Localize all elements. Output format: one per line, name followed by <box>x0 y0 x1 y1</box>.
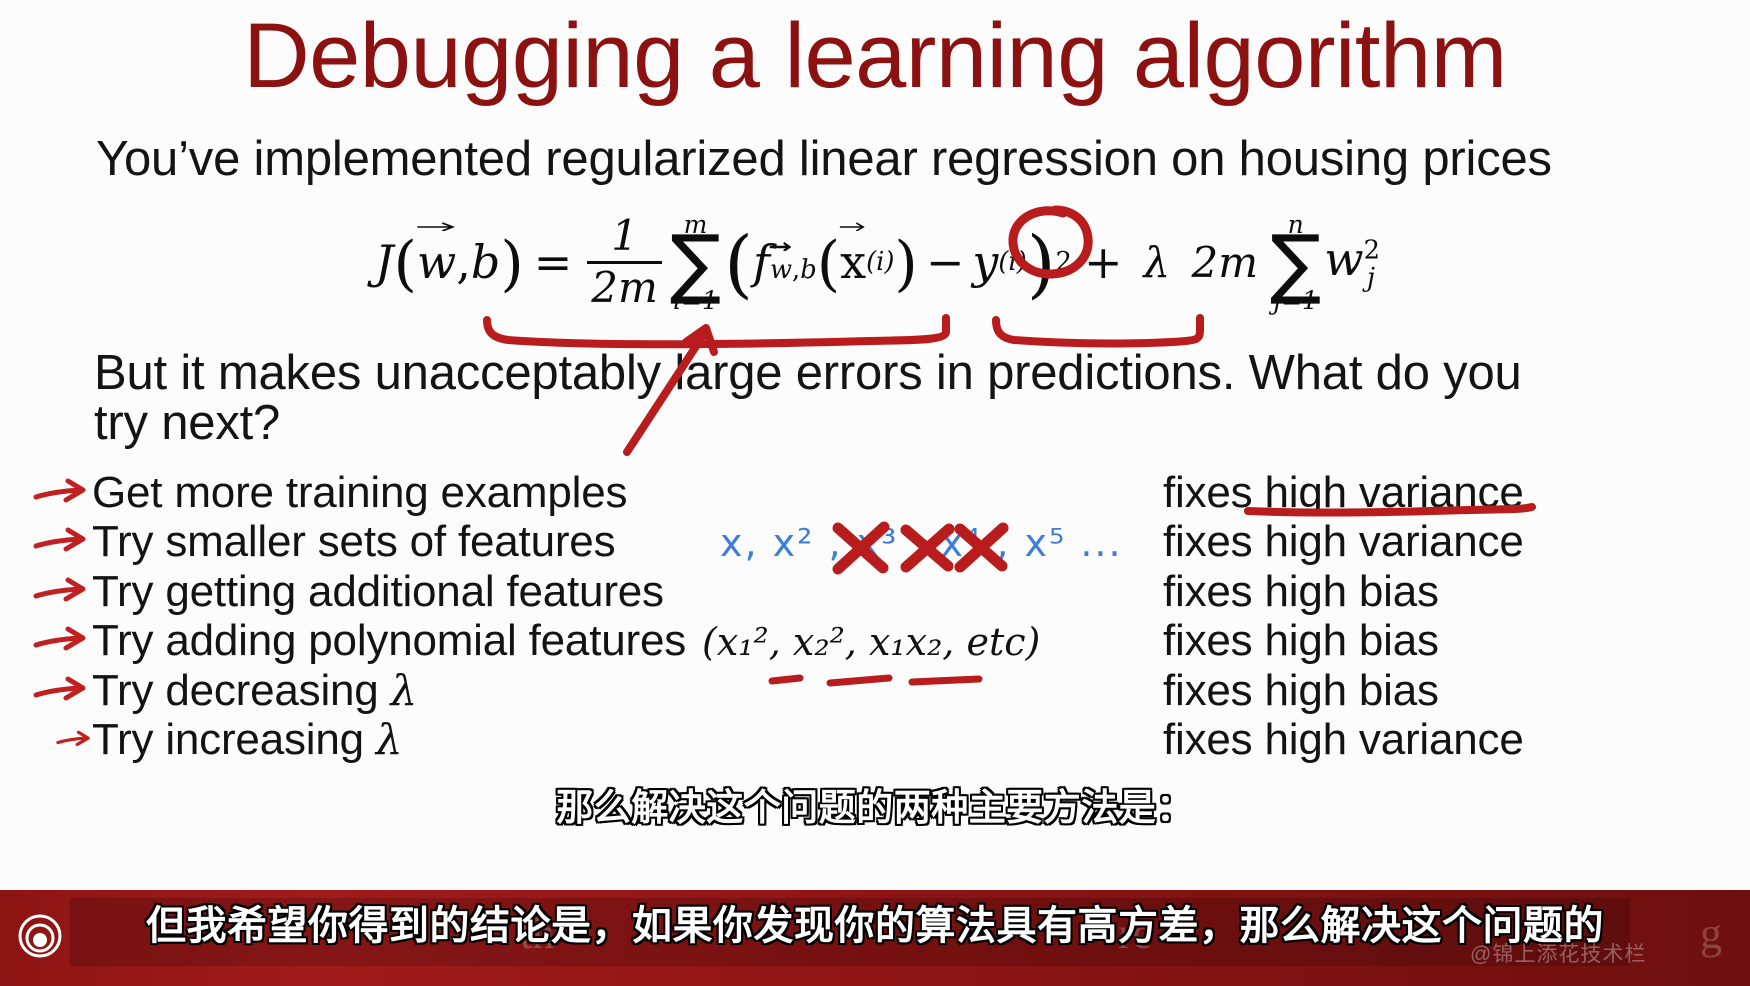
sigma-glyph: ∑ <box>670 233 721 292</box>
red-arrow-icon <box>30 676 92 706</box>
red-arrow-icon <box>30 527 92 557</box>
list-item[interactable]: Try smaller sets of features x, x² , x³ … <box>30 518 1750 568</box>
question-paragraph: But it makes unacceptably large errors i… <box>94 348 1544 448</box>
formula-coefficient-1-over-2m: 1 2m <box>587 215 662 310</box>
list-item-label: Try decreasing <box>92 668 379 714</box>
red-arrow-icon <box>30 626 92 656</box>
red-arrow-icon <box>30 478 92 508</box>
list-item-label: Get more training examples <box>92 470 627 516</box>
list-item-lambda: λ <box>376 717 402 763</box>
formula-f-subscript: w,b <box>770 255 817 285</box>
formula-square-exponent: 2 <box>1056 247 1072 277</box>
watermark: @锦上添花技术栏 <box>1470 938 1646 968</box>
list-item-fixes: fixes high variance <box>1163 717 1524 763</box>
formula-w-vector: w <box>417 235 456 289</box>
list-item[interactable]: Get more training examples fixes high va… <box>30 468 1750 518</box>
formula-summation-i: m ∑ i=1 <box>670 212 721 313</box>
question-paragraph-line1: But it makes unacceptably large errors i… <box>94 348 1544 398</box>
formula-lambda: λ <box>1140 238 1175 287</box>
handwritten-features-annotation: x, x² , x³ , x⁴ , x⁵ ... <box>720 521 1123 565</box>
list-item[interactable]: Try increasing λ fixes high variance <box>30 716 1750 766</box>
question-paragraph-line2: try next? <box>94 398 1544 448</box>
formula-y: y <box>972 235 998 289</box>
red-arrow-icon <box>30 577 92 607</box>
list-item[interactable]: Try getting additional features fixes hi… <box>30 567 1750 617</box>
list-item-fixes: fixes high bias <box>1163 668 1439 714</box>
list-item-label: Try smaller sets of features <box>92 519 615 565</box>
list-item-lambda: λ <box>391 668 417 714</box>
vector-arrow-icon <box>839 221 865 231</box>
list-item-label: Try adding polynomial features <box>92 618 686 664</box>
red-arrow-icon <box>30 725 92 755</box>
formula-summation-j: n ∑ j=1 <box>1270 212 1321 313</box>
formula-coefficient-lambda-over-2m: λ 2m <box>1140 238 1263 287</box>
list-item-fixes: fixes high bias <box>1163 618 1439 664</box>
cost-function-formula: J(w,b) = 1 2m m ∑ i=1 (fw,b(x(i))−y(i))2… <box>0 190 1750 335</box>
spiral-logo-icon <box>18 914 62 958</box>
list-item-fixes: fixes high variance <box>1163 470 1524 516</box>
intro-text: You’ve implemented regularized linear re… <box>96 128 1716 190</box>
list-item-fixes: fixes high variance <box>1163 519 1524 565</box>
slide-canvas: Debugging a learning algorithm You’ve im… <box>0 0 1750 890</box>
polynomial-features-note: (x₁², x₂², x₁x₂, etc) <box>702 620 1040 664</box>
list-item-label: Try increasing <box>92 717 364 763</box>
sigma-glyph: ∑ <box>1270 233 1321 292</box>
list-item-fixes: fixes high bias <box>1163 569 1439 615</box>
formula-b: b <box>471 235 500 289</box>
page-title: Debugging a learning algorithm <box>0 2 1750 110</box>
formula-w-j-squared: w2j <box>1324 232 1375 292</box>
vector-arrow-icon <box>769 241 791 251</box>
formula-y-superscript: (i) <box>998 247 1026 277</box>
formula-f: f <box>753 235 770 289</box>
caption-line-top: 那么解决这个问题的两种主要方法是： <box>0 786 1750 830</box>
formula-J: J <box>375 235 393 289</box>
vector-arrow-icon <box>416 221 455 231</box>
remedies-list: Get more training examples fixes high va… <box>30 468 1750 765</box>
formula-x-superscript: (i) <box>866 247 894 277</box>
formula-x-vector: x <box>840 235 866 289</box>
list-item[interactable]: Try adding polynomial features (x₁², x₂²… <box>30 617 1750 667</box>
list-item[interactable]: Try decreasing λ fixes high bias <box>30 666 1750 716</box>
list-item-label: Try getting additional features <box>92 569 664 615</box>
